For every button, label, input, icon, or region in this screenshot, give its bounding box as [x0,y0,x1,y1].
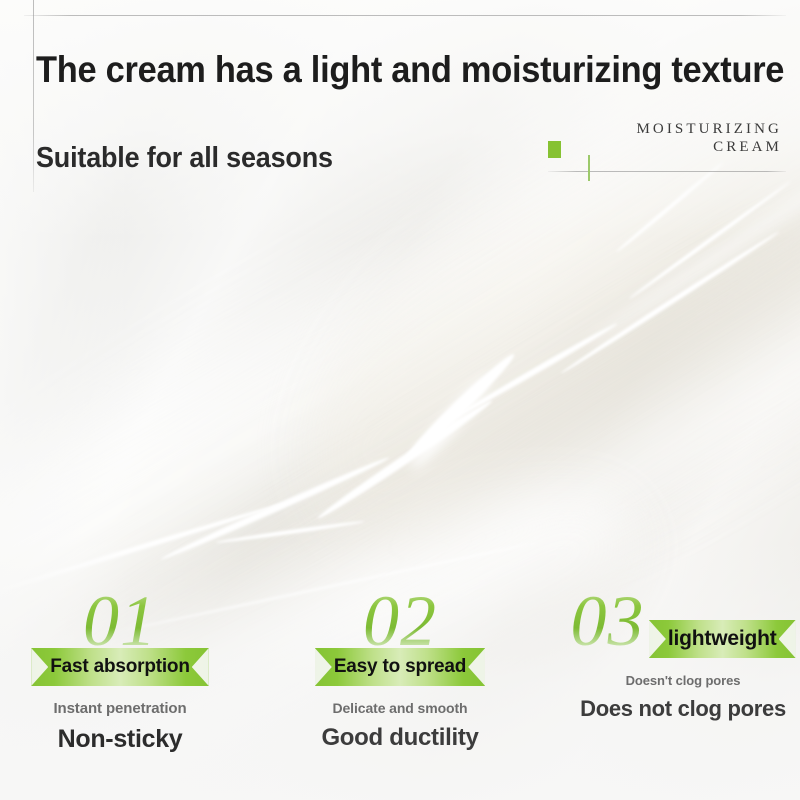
feature-list: 01 Fast absorption Instant penetration N… [0,585,800,800]
feature-ribbon-2: Easy to spread [315,648,485,686]
feature-ribbon-label-3: lightweight [668,627,777,650]
page-subtitle: Suitable for all seasons [36,143,333,175]
feature-number-2: 02 [363,585,437,659]
feature-number-3: 03 [570,585,644,659]
feature-headline-3: Does not clog pores [570,696,796,722]
brand-divider-rule [548,171,786,172]
feature-caption-3: Doesn't clog pores [570,673,796,688]
brand-accent-tick [588,155,590,181]
top-divider-rule [24,15,786,16]
brand-name-line-1: MOISTURIZING [636,120,782,138]
feature-caption-1: Instant penetration [10,700,230,717]
feature-item-3: 03 lightweight Doesn't clog pores Does n… [570,585,796,722]
feature-ribbon-3: lightweight [649,620,796,658]
feature-ribbon-label-1: Fast absorption [50,656,190,677]
feature-ribbon-1: Fast absorption [31,648,209,686]
page-title: The cream has a light and moisturizing t… [36,50,784,91]
left-vertical-rule [33,0,34,192]
feature-headline-2: Good ductility [290,724,510,752]
feature-item-1: 01 Fast absorption Instant penetration N… [10,585,230,754]
feature-item-2: 02 Easy to spread Delicate and smooth Go… [290,585,510,752]
product-banner: The cream has a light and moisturizing t… [0,0,800,800]
brand-lockup: MOISTURIZING CREAM [636,120,782,157]
green-square-icon [548,141,561,158]
feature-headline-1: Non-sticky [10,725,230,754]
feature-number-1: 01 [83,585,157,659]
feature-caption-2: Delicate and smooth [290,700,510,716]
feature-ribbon-label-2: Easy to spread [334,656,466,677]
brand-name-line-2: CREAM [636,138,782,156]
